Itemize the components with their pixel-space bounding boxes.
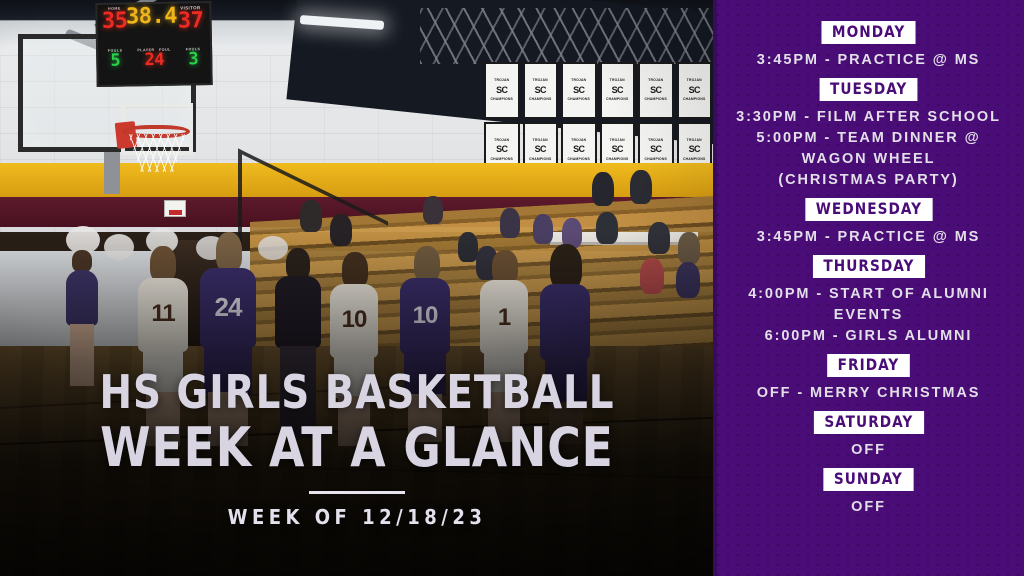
- page-title-line-2: WEEK AT A GLANCE: [21, 418, 692, 478]
- schedule-entry: 5:00PM - TEAM DINNER @ WAGON WHEEL: [719, 128, 1018, 170]
- title-divider: [309, 491, 405, 494]
- day-label-monday: MONDAY: [821, 21, 915, 44]
- schedule-day-group: MONDAY3:45PM - PRACTICE @ MS: [719, 14, 1018, 71]
- day-label-thursday: THURSDAY: [813, 255, 925, 278]
- page-title-line-1: HS GIRLS BASKETBALL: [21, 366, 692, 418]
- day-label-wednesday: WEDNESDAY: [805, 198, 932, 221]
- title-block: HS GIRLS BASKETBALL WEEK AT A GLANCE WEE…: [0, 366, 714, 529]
- schedule-day-group: THURSDAY4:00PM - START OF ALUMNI EVENTS6…: [719, 248, 1018, 347]
- schedule-day-group: SUNDAYOFF: [719, 461, 1018, 518]
- schedule-entry: OFF - MERRY CHRISTMAS: [753, 383, 985, 404]
- schedule-entry: (CHRISTMAS PARTY): [774, 170, 962, 191]
- schedule-entry: OFF: [847, 440, 890, 461]
- week-at-a-glance-graphic: TROJAN SC CHAMPIONS TROJAN SC CHAMPIONS …: [0, 0, 1024, 576]
- schedule-day-group: SATURDAYOFF: [719, 404, 1018, 461]
- schedule-panel: MONDAY3:45PM - PRACTICE @ MSTUESDAY3:30P…: [713, 0, 1024, 576]
- schedule-entry: OFF: [847, 497, 890, 518]
- schedule-entry: 6:00PM - GIRLS ALUMNI: [761, 326, 977, 347]
- schedule-day-group: WEDNESDAY3:45PM - PRACTICE @ MS: [719, 191, 1018, 248]
- day-label-sunday: SUNDAY: [824, 468, 914, 491]
- week-of-subtitle: WEEK OF 12/18/23: [0, 505, 714, 529]
- schedule-day-group: TUESDAY3:30PM - FILM AFTER SCHOOL5:00PM …: [719, 71, 1018, 191]
- schedule-entry: 3:45PM - PRACTICE @ MS: [753, 227, 985, 248]
- schedule-entry: 3:45PM - PRACTICE @ MS: [753, 50, 985, 71]
- schedule-entry: 3:30PM - FILM AFTER SCHOOL: [732, 107, 1005, 128]
- schedule-day-group: FRIDAYOFF - MERRY CHRISTMAS: [719, 347, 1018, 404]
- day-label-tuesday: TUESDAY: [819, 78, 917, 101]
- schedule-list: MONDAY3:45PM - PRACTICE @ MSTUESDAY3:30P…: [713, 0, 1024, 528]
- schedule-entry: 4:00PM - START OF ALUMNI EVENTS: [719, 284, 1018, 326]
- day-label-saturday: SATURDAY: [814, 411, 924, 434]
- day-label-friday: FRIDAY: [827, 354, 910, 377]
